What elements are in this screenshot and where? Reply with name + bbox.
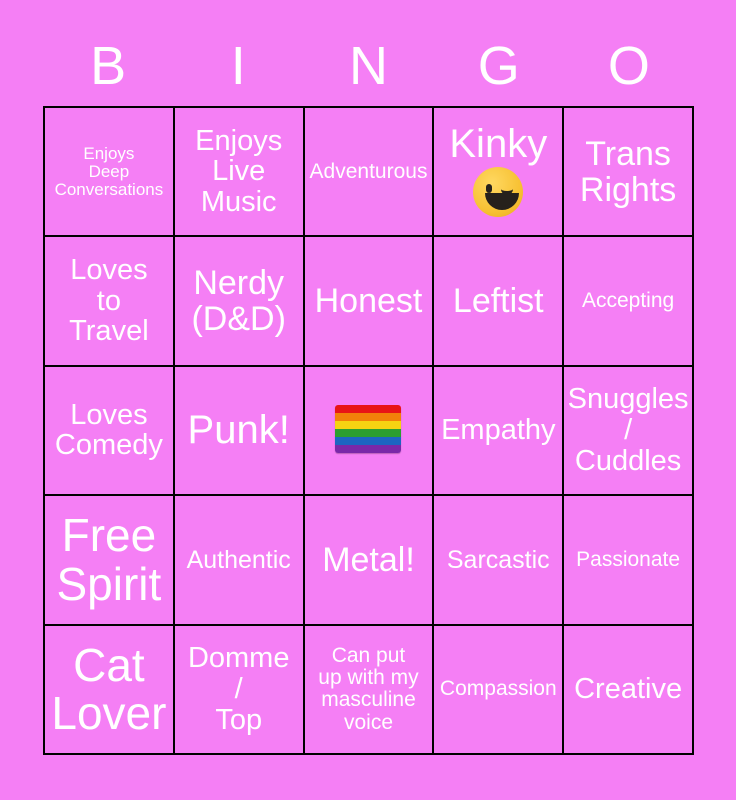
bingo-cell-label: Metal! <box>308 542 430 578</box>
bingo-cell-r3c1[interactable]: Loves Comedy <box>45 367 175 496</box>
bingo-cell-r1c5[interactable]: Trans Rights <box>564 108 694 237</box>
bingo-cell-r1c2[interactable]: Enjoys Live Music <box>175 108 305 237</box>
bingo-cell-r5c5[interactable]: Creative <box>564 626 694 755</box>
bingo-cell-label: Nerdy (D&D) <box>178 265 300 337</box>
bingo-card: BINGO Enjoys Deep ConversationsEnjoys Li… <box>0 0 736 800</box>
bingo-cell-label: Free Spirit <box>48 511 170 609</box>
bingo-cell-r3c5[interactable]: Snuggles / Cuddles <box>564 367 694 496</box>
bingo-cell-label: Trans Rights <box>567 136 689 208</box>
bingo-cell-r5c1[interactable]: Cat Lover <box>45 626 175 755</box>
bingo-cell-r3c2[interactable]: Punk! <box>175 367 305 496</box>
bingo-cell-label: Adventurous <box>308 161 430 183</box>
bingo-cell-r4c4[interactable]: Sarcastic <box>434 496 564 625</box>
bingo-cell-label: Authentic <box>178 547 300 574</box>
bingo-cell-label: Passionate <box>567 549 689 571</box>
bingo-cell-r5c3[interactable]: Can put up with my masculine voice <box>305 626 435 755</box>
bingo-cell-label: Compassion <box>437 678 559 700</box>
bingo-header-letter-b: B <box>43 30 173 102</box>
bingo-cell-r4c5[interactable]: Passionate <box>564 496 694 625</box>
bingo-cell-label: Kinky <box>437 123 559 165</box>
bingo-cell-r4c2[interactable]: Authentic <box>175 496 305 625</box>
bingo-cell-label: Domme / Top <box>178 643 300 735</box>
bingo-header-letter-g: G <box>434 30 564 102</box>
bingo-cell-r2c3[interactable]: Honest <box>305 237 435 366</box>
bingo-cell-r5c4[interactable]: Compassion <box>434 626 564 755</box>
bingo-cell-label: Can put up with my masculine voice <box>308 645 430 734</box>
bingo-cell-r4c3[interactable]: Metal! <box>305 496 435 625</box>
bingo-cell-label: Creative <box>567 674 689 705</box>
bingo-cell-r2c2[interactable]: Nerdy (D&D) <box>175 237 305 366</box>
bingo-header-letter-n: N <box>303 30 433 102</box>
winking-face-emoji <box>473 167 523 221</box>
bingo-cell-label: Cat Lover <box>48 641 170 739</box>
bingo-cell-label: Accepting <box>567 290 689 312</box>
rainbow-flag-emoji <box>335 405 401 457</box>
bingo-cell-label: Snuggles / Cuddles <box>567 384 689 476</box>
bingo-header: BINGO <box>43 30 694 102</box>
bingo-cell-r5c2[interactable]: Domme / Top <box>175 626 305 755</box>
bingo-cell-r1c1[interactable]: Enjoys Deep Conversations <box>45 108 175 237</box>
bingo-cell-label: Punk! <box>178 409 300 451</box>
bingo-cell-label: Leftist <box>437 283 559 319</box>
bingo-header-letter-o: O <box>564 30 694 102</box>
bingo-cell-label: Empathy <box>437 415 559 446</box>
bingo-cell-label: Loves to Travel <box>48 255 170 347</box>
bingo-grid: Enjoys Deep ConversationsEnjoys Live Mus… <box>43 106 694 755</box>
bingo-cell-r3c4[interactable]: Empathy <box>434 367 564 496</box>
bingo-cell-r2c1[interactable]: Loves to Travel <box>45 237 175 366</box>
bingo-cell-r1c3[interactable]: Adventurous <box>305 108 435 237</box>
bingo-cell-label: Honest <box>308 283 430 319</box>
bingo-cell-r1c4[interactable]: Kinky <box>434 108 564 237</box>
bingo-cell-label: Enjoys Live Music <box>178 126 300 218</box>
bingo-cell-r4c1[interactable]: Free Spirit <box>45 496 175 625</box>
bingo-cell-r2c5[interactable]: Accepting <box>564 237 694 366</box>
bingo-cell-label: Loves Comedy <box>48 400 170 461</box>
bingo-cell-r2c4[interactable]: Leftist <box>434 237 564 366</box>
bingo-header-letter-i: I <box>173 30 303 102</box>
bingo-cell-label: Enjoys Deep Conversations <box>48 145 170 199</box>
bingo-cell-r3c3[interactable] <box>305 367 435 496</box>
bingo-cell-label: Sarcastic <box>437 547 559 574</box>
